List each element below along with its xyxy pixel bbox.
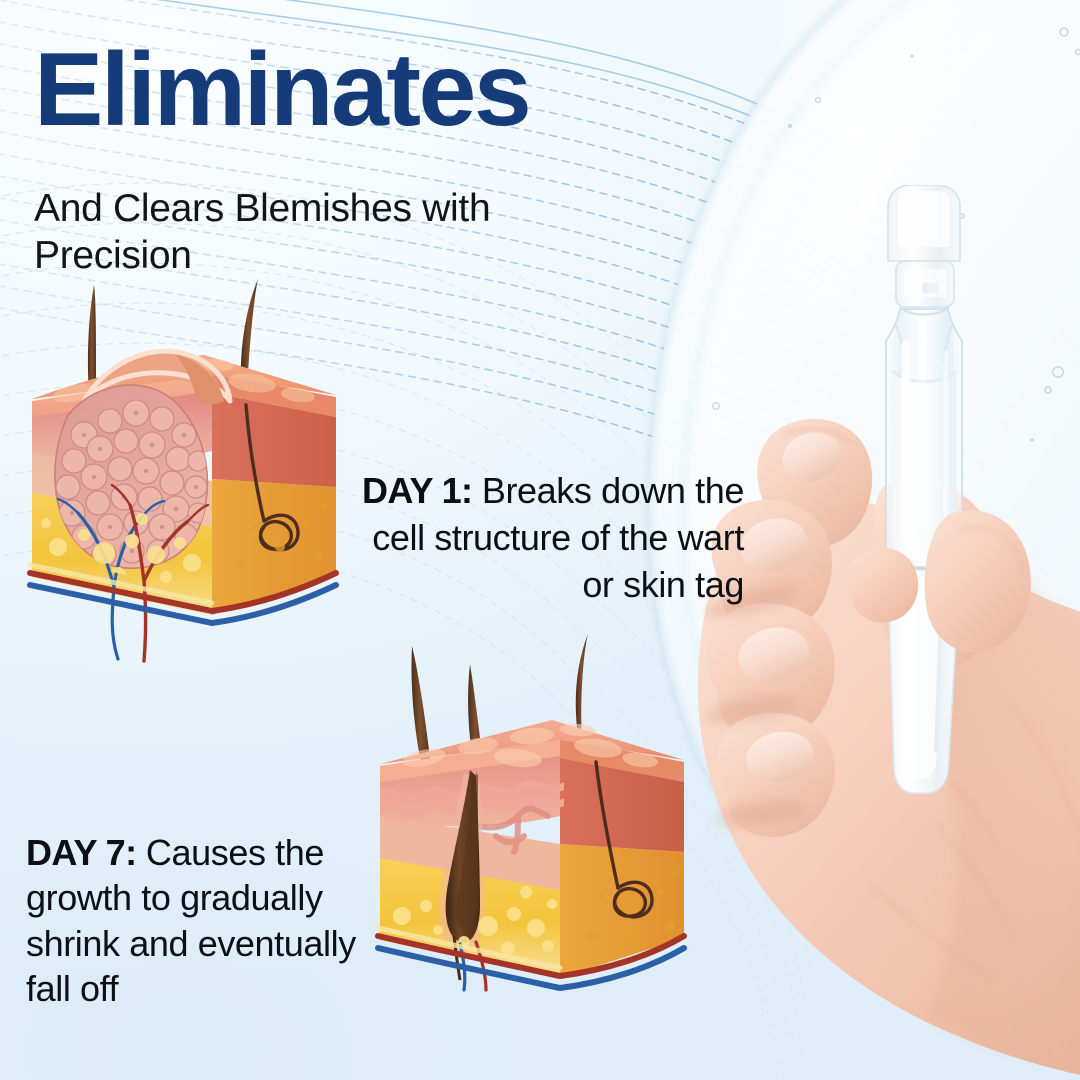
step-day-1-key: DAY 1: <box>362 470 482 511</box>
diagram-skin-with-wart <box>6 255 366 675</box>
diagram-skin-healthy <box>368 630 708 1030</box>
index-fingertip <box>848 548 918 623</box>
step-day-7-key: DAY 7: <box>26 832 146 873</box>
page-title: Eliminates <box>34 42 529 140</box>
ampoule-applicator <box>886 185 962 793</box>
step-day-7: DAY 7: Causes the growth to gradually sh… <box>26 830 356 1011</box>
step-day-1: DAY 1: Breaks down the cell structure of… <box>352 468 744 608</box>
product-in-hand <box>660 185 1080 1080</box>
applicator-cap <box>888 185 960 307</box>
advertisement-canvas: Eliminates And Clears Blemishes with Pre… <box>0 0 1080 1080</box>
page-subtitle: And Clears Blemishes with Precision <box>34 186 644 280</box>
